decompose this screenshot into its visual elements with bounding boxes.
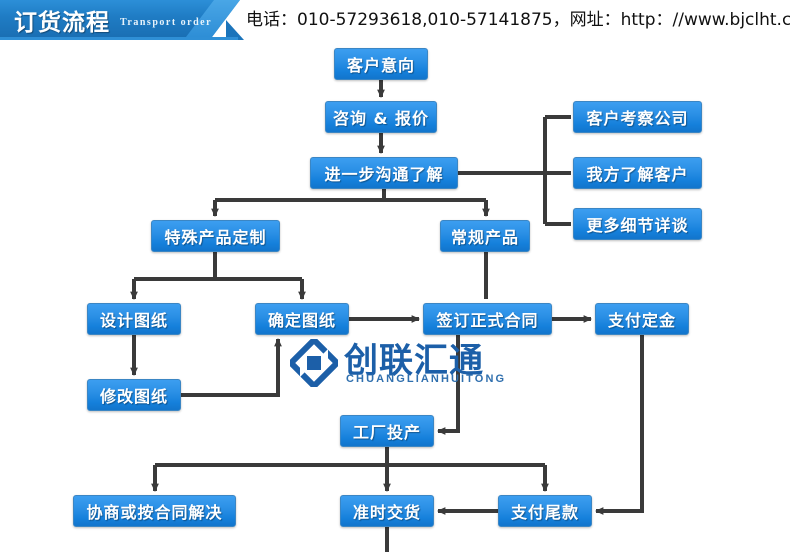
node-factory-production[interactable]: 工厂投产 [340,415,434,447]
node-further-communication[interactable]: 进一步沟通了解 [310,157,458,189]
node-pay-deposit[interactable]: 支付定金 [595,303,689,335]
node-standard-product[interactable]: 常规产品 [440,220,530,252]
node-we-understand-customer[interactable]: 我方了解客户 [573,157,702,189]
node-customer-intent[interactable]: 客户意向 [334,48,428,80]
node-pay-balance[interactable]: 支付尾款 [498,495,592,527]
page-subtitle: Transport order [120,17,212,28]
node-design-drawing[interactable]: 设计图纸 [87,303,181,335]
node-custom-product[interactable]: 特殊产品定制 [151,220,280,252]
edge-n13-n10 [181,339,278,395]
node-sign-formal-contract[interactable]: 签订正式合同 [423,303,552,335]
node-on-time-delivery[interactable]: 准时交货 [340,495,434,527]
edge-n11-n14 [438,335,458,431]
page-header: 订货流程 Transport order 电话：010-57293618,010… [0,0,790,40]
node-customer-visits-company[interactable]: 客户考察公司 [573,101,702,133]
edge-n12-n17 [596,335,642,511]
node-confirm-drawing[interactable]: 确定图纸 [255,303,349,335]
page-title: 订货流程 [14,3,110,37]
node-consult-and-quote[interactable]: 咨询 & 报价 [325,101,437,133]
node-more-details-discussion[interactable]: 更多细节详谈 [573,208,702,240]
contact-info: 电话：010-57293618,010-57141875，网址：http：//w… [246,5,790,30]
node-negotiate-or-contract[interactable]: 协商或按合同解决 [73,495,236,527]
order-process-flowchart: 客户意向 咨询 & 报价 进一步沟通了解 客户考察公司 我方了解客户 更多细节详… [0,40,790,552]
node-revise-drawing[interactable]: 修改图纸 [87,379,181,411]
